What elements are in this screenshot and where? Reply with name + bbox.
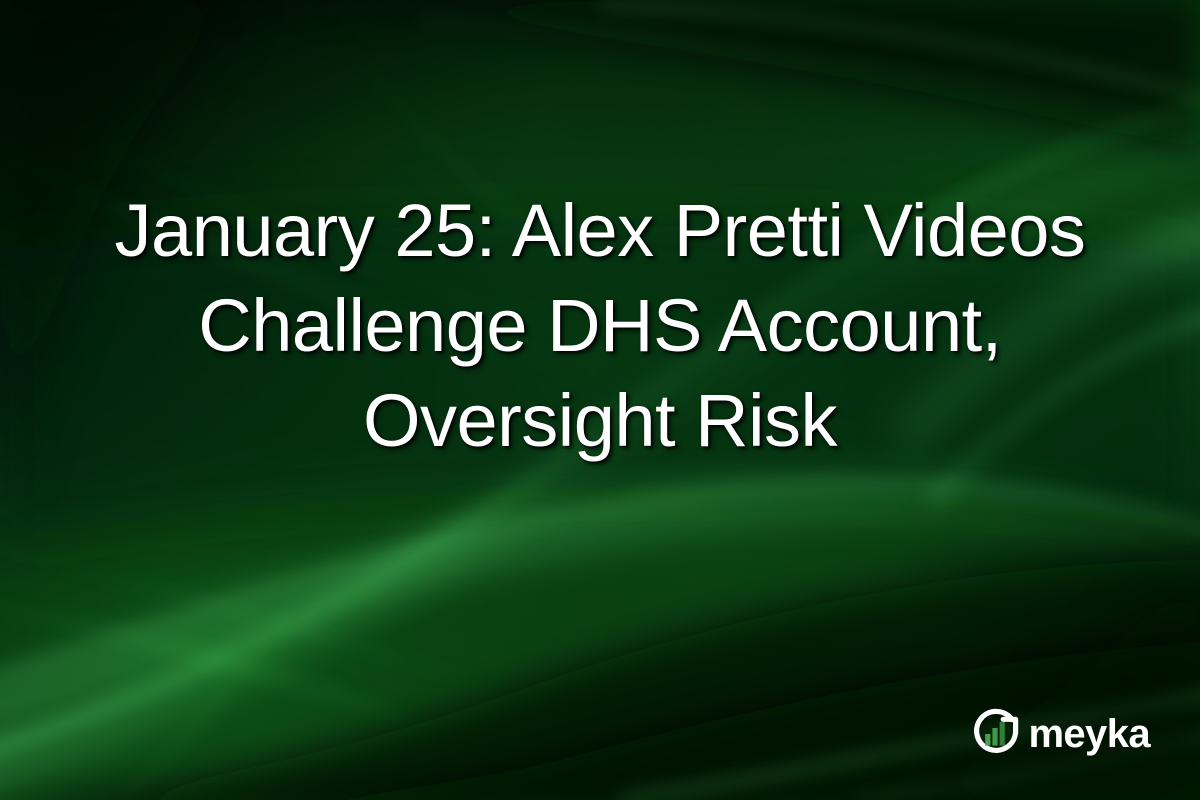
logo-wordmark: meyka	[1028, 714, 1150, 754]
headline-line-1: January 25: Alex Pretti Videos	[40, 183, 1160, 278]
headline-line-3: Oversight Risk	[40, 373, 1160, 468]
meyka-logo[interactable]: meyka	[970, 706, 1150, 760]
article-banner: January 25: Alex Pretti Videos Challenge…	[0, 0, 1200, 800]
circular-bar-chart-logo-icon	[970, 707, 1022, 759]
headline-line-2: Challenge DHS Account,	[40, 278, 1160, 373]
headline: January 25: Alex Pretti Videos Challenge…	[0, 183, 1200, 468]
